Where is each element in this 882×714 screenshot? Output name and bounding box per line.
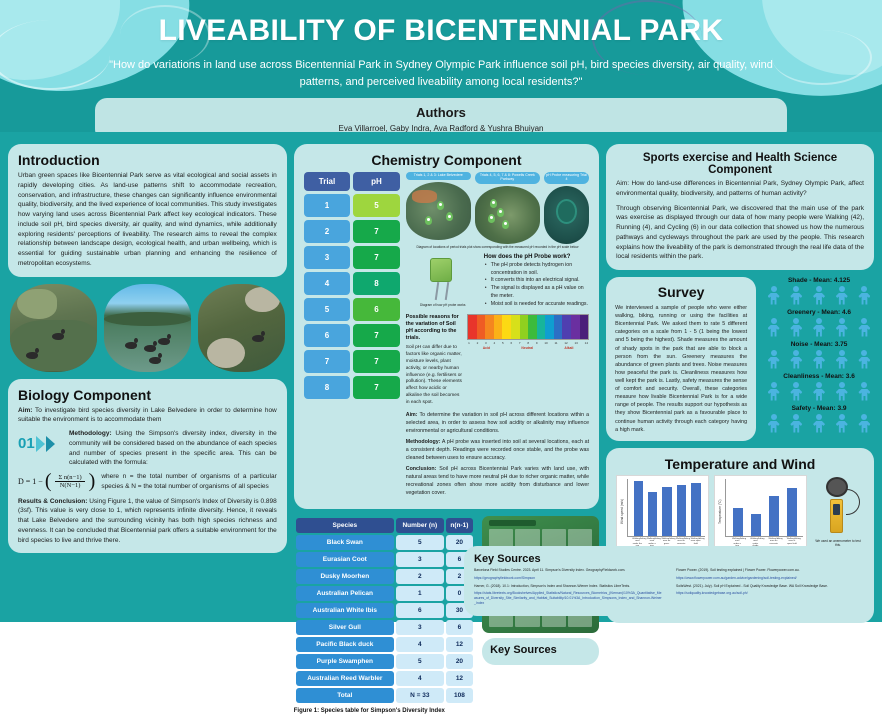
list-item: It converts this into an electrical sign…	[484, 277, 589, 285]
chemistry-aim-text: To determine the variation in soil pH ac…	[406, 412, 589, 434]
bar	[787, 488, 796, 536]
table-row: Purple Swamphen 5 20	[296, 654, 473, 669]
sources-column-left: Barcelona Field Studies Centre. 2023. Ap…	[474, 568, 662, 609]
survey-text: We interviewed a sample of people who we…	[615, 304, 747, 434]
person-icon	[835, 318, 848, 337]
trial-number: 6	[304, 324, 351, 347]
species-count: 2	[396, 569, 444, 584]
total-nn1: 108	[446, 688, 473, 703]
wind-chart-plot	[627, 479, 705, 537]
species-table: Species Number (n) n(n-1) Black Swan 5 2…	[294, 516, 475, 705]
person-icon	[790, 350, 803, 369]
species-nn1: 20	[446, 654, 473, 669]
photo-black-swans	[104, 284, 191, 372]
table-row: 6 7	[304, 324, 400, 347]
biology-aim: Aim: To investigate bird species diversi…	[18, 406, 277, 426]
chemistry-methodology: Methodology: A pH probe was inserted int…	[406, 439, 589, 463]
people-row	[764, 350, 874, 369]
source-entry: Flower Power. (2019). Soil testing expla…	[676, 568, 864, 573]
ph-value: 7	[353, 376, 400, 399]
survey-label-cleanliness: Cleanliness - Mean: 3.6	[764, 373, 874, 380]
person-icon	[790, 318, 803, 337]
table-row: 3 7	[304, 246, 400, 269]
map-note: Diagram of locations of period trials pl…	[406, 246, 589, 250]
total-count: N = 33	[396, 688, 444, 703]
table-row: Pacific Black duck 4 12	[296, 637, 473, 652]
ph-value: 8	[353, 272, 400, 295]
key-sources-band: Key Sources Barcelona Field Studies Cent…	[464, 546, 874, 616]
source-link[interactable]: https://www.flowerpower.com.au/garden-ad…	[676, 576, 864, 581]
person-icon	[858, 414, 871, 433]
formula-where-text: where n = the total number of organisms …	[101, 472, 276, 492]
person-icon	[813, 318, 826, 337]
ph-variation-body: Soil pH can differ due to factors like o…	[406, 345, 462, 408]
survey-label-safety: Safety - Mean: 3.9	[764, 405, 874, 412]
chemistry-right: Trials 1, 2 & 3: Lake Belvedere Trials 4…	[406, 172, 589, 501]
column-left: Introduction Urban green spaces like Bic…	[8, 144, 287, 622]
probe-explainer: How does the pH Probe work? The pH probe…	[484, 254, 589, 309]
chevron-right-icon	[36, 436, 45, 452]
person-icon	[767, 414, 780, 433]
person-icon	[858, 286, 871, 305]
map-caption: Trials 4, 5, 6, 7 & 8: Powells Creek Par…	[475, 172, 540, 184]
list-item: The signal is displayed as a pH value on…	[484, 285, 589, 301]
species-table-caption: Figure 1: Species table for Simpson's Di…	[294, 708, 475, 714]
ph-value: 6	[353, 298, 400, 321]
ph-variation-text: Possible reasons for the variation of So…	[406, 314, 462, 408]
survey-group-cleanliness: Cleanliness - Mean: 3.6	[764, 373, 874, 401]
ph-value: 7	[353, 324, 400, 347]
survey-group-safety: Safety - Mean: 3.9	[764, 405, 874, 433]
map-card-3: pH Probe measuring Trial 4	[544, 172, 589, 244]
biology-results: Results & Conclusion: Using Figure 1, th…	[18, 497, 277, 546]
species-name: Dusky Moorhen	[296, 569, 394, 584]
trial-column-header: Trial	[304, 172, 351, 191]
wind-chart-ylabel: Wind speed (m/s)	[620, 479, 627, 553]
ph-variation-block: Possible reasons for the variation of So…	[406, 314, 589, 408]
biology-aim-label: Aim:	[18, 407, 32, 414]
survey-pictograms: Shade - Mean: 4.125 Greenery - Mean: 4.6	[764, 277, 874, 441]
bar	[691, 483, 700, 536]
people-row	[764, 286, 874, 305]
bar	[648, 492, 657, 535]
survey-label-greenery: Greenery - Mean: 4.6	[764, 309, 874, 316]
biology-card: Biology Component Aim: To investigate bi…	[8, 379, 287, 554]
trial-number: 4	[304, 272, 351, 295]
biology-methodology-row: 01 Methodology: Using the Simpson's dive…	[18, 429, 277, 468]
formula-numerator: Σ n(n−1)	[55, 474, 84, 482]
species-name: Australian Pelican	[296, 586, 394, 601]
map-image-lake-belvedere	[406, 182, 471, 240]
person-icon	[813, 286, 826, 305]
table-row: 4 8	[304, 272, 400, 295]
species-name: Australian White Ibis	[296, 603, 394, 618]
trial-number: 5	[304, 298, 351, 321]
species-count: 5	[396, 654, 444, 669]
ph-value: 5	[353, 194, 400, 217]
sports-aim-text: How do land-use differences in Bicentenn…	[616, 180, 864, 197]
person-icon	[858, 318, 871, 337]
survey-label-shade: Shade - Mean: 4.125	[764, 277, 874, 284]
sports-text: Through observing Bicentennial Park, we …	[616, 204, 864, 263]
formula-prefix: D = 1 −	[18, 477, 43, 486]
anemometer-figure: We used an anemometer to test this.	[812, 475, 864, 548]
ph-scale-bands: Acid Neutral Alkali	[467, 346, 589, 350]
trial-table-header: Trial pH	[304, 172, 400, 191]
bar	[751, 514, 760, 536]
chemistry-conclusions: Aim: To determine the variation in soil …	[406, 412, 589, 500]
source-link[interactable]: https://soilquality.knowledgebase.org.au…	[676, 591, 864, 596]
species-name: Pacific Black duck	[296, 637, 394, 652]
biology-title: Biology Component	[18, 387, 277, 403]
temp-wind-charts: Wind speed (m/s) Walking/biking area und…	[616, 475, 864, 555]
species-nn1: 12	[446, 671, 473, 686]
table-row: 7 7	[304, 350, 400, 373]
table-row: 5 6	[304, 298, 400, 321]
probe-caption: Diagram of how pH probe works	[406, 304, 480, 308]
chemistry-conclusion-label: Conclusion:	[406, 466, 437, 472]
species-name: Purple Swamphen	[296, 654, 394, 669]
ph-scale-bar	[467, 314, 589, 340]
temp-chart-plot	[725, 479, 803, 537]
survey-group-greenery: Greenery - Mean: 4.6	[764, 309, 874, 337]
species-count: 5	[396, 535, 444, 550]
person-icon	[790, 382, 803, 401]
species-nn1: 12	[446, 637, 473, 652]
ph-variation-title: Possible reasons for the variation of So…	[406, 314, 462, 343]
people-row	[764, 414, 874, 433]
survey-label-noise: Noise - Mean: 3.75	[764, 341, 874, 348]
column-header-number: Number (n)	[396, 518, 444, 533]
person-icon	[813, 350, 826, 369]
table-row: Dusky Moorhen 2 2	[296, 569, 473, 584]
bar	[769, 496, 778, 536]
trial-number: 8	[304, 376, 351, 399]
survey-split: Survey We interviewed a sample of people…	[606, 277, 874, 441]
ph-scale-figure: 1234567 891011121314 Acid Neutral Alkali	[467, 314, 589, 408]
step-number-badge: 01	[18, 429, 64, 452]
chemistry-conclusion: Conclusion: Soil pH across Bicentennial …	[406, 466, 589, 498]
temp-chart-ylabel: Temperature (°C)	[718, 479, 725, 553]
key-sources-title: Key Sources	[490, 644, 591, 656]
ph-column-header: pH	[353, 172, 400, 191]
sports-title: Sports exercise and Health Science Compo…	[616, 152, 864, 176]
species-name: Australian Reed Warbler	[296, 671, 394, 686]
table-row: Eurasian Coot 3 6	[296, 552, 473, 567]
species-name: Eurasian Coot	[296, 552, 394, 567]
total-label: Total	[296, 688, 394, 703]
person-icon	[813, 414, 826, 433]
source-link[interactable]: https://stats.libretexts.org/Bookshelves…	[474, 591, 662, 606]
person-icon	[858, 382, 871, 401]
ph-value: 7	[353, 350, 400, 373]
key-sources-card: Key Sources	[482, 638, 599, 665]
list-item: The pH probe detects hydrogen ion concen…	[484, 262, 589, 278]
people-row	[764, 318, 874, 337]
survey-card: Survey We interviewed a sample of people…	[606, 277, 756, 441]
biology-methodology-label: Methodology:	[69, 430, 112, 437]
map-row: Trials 1, 2 & 3: Lake Belvedere Trials 4…	[406, 172, 589, 244]
sources-columns: Barcelona Field Studies Centre. 2023. Ap…	[474, 568, 864, 609]
bar	[677, 485, 686, 536]
table-row: 8 7	[304, 376, 400, 399]
probe-block: Diagram of how pH probe works How does t…	[406, 254, 589, 309]
column-header-species: Species	[296, 518, 394, 533]
bar	[634, 481, 643, 536]
table-row: Australian White Ibis 6 30	[296, 603, 473, 618]
survey-group-noise: Noise - Mean: 3.75	[764, 341, 874, 369]
map-card-1: Trials 1, 2 & 3: Lake Belvedere	[406, 172, 471, 244]
trial-number: 1	[304, 194, 351, 217]
authors-box: Authors Eva Villarroel, Gaby Indra, Ava …	[95, 98, 787, 132]
person-icon	[835, 382, 848, 401]
simpson-formula: D = 1 − ( Σ n(n−1) N(N−1) )	[18, 473, 95, 490]
intro-photo-row	[8, 284, 287, 372]
ph-band-acid: Acid	[483, 346, 490, 350]
chemistry-card: Chemistry Component Trial pH 1 5 2 7	[294, 144, 599, 509]
species-count: 1	[396, 586, 444, 601]
people-row	[764, 382, 874, 401]
page-title: LIVEABILITY OF BICENTENNIAL PARK	[0, 0, 882, 48]
chemistry-aim-label: Aim:	[406, 412, 418, 418]
species-count: 4	[396, 637, 444, 652]
chevron-right-icon	[46, 436, 55, 452]
trial-number: 2	[304, 220, 351, 243]
chemistry-aim: Aim: To determine the variation in soil …	[406, 412, 589, 436]
formula-paren-open: (	[45, 473, 52, 490]
person-icon	[767, 382, 780, 401]
introduction-title: Introduction	[18, 152, 277, 168]
map-image-powells-creek	[475, 186, 540, 244]
map-caption: Trials 1, 2 & 3: Lake Belvedere	[406, 172, 471, 180]
key-sources-band-title: Key Sources	[474, 553, 864, 565]
step-number: 01	[18, 435, 35, 452]
list-item: Moist soil is needed for accurate readin…	[484, 301, 589, 309]
sources-column-right: Flower Power. (2019). Soil testing expla…	[676, 568, 864, 609]
person-icon	[835, 350, 848, 369]
sports-card: Sports exercise and Health Science Compo…	[606, 144, 874, 270]
person-icon	[767, 350, 780, 369]
table-row: Australian Pelican 1 0	[296, 586, 473, 601]
bar	[662, 487, 671, 536]
person-icon	[813, 382, 826, 401]
trial-number: 3	[304, 246, 351, 269]
ph-value: 7	[353, 246, 400, 269]
map-caption: pH Probe measuring Trial 4	[544, 172, 589, 184]
species-count: 4	[396, 671, 444, 686]
simpson-formula-row: D = 1 − ( Σ n(n−1) N(N−1) ) where n = th…	[18, 472, 277, 492]
biology-methodology: Methodology: Using the Simpson's diversi…	[69, 429, 277, 468]
authors-list: Eva Villarroel, Gaby Indra, Ava Radford …	[105, 124, 777, 132]
anemometer-icon	[812, 475, 864, 539]
person-icon	[790, 414, 803, 433]
table-row: Australian Reed Warbler 4 12	[296, 671, 473, 686]
probe-question-title: How does the pH Probe work?	[484, 254, 589, 260]
biology-aim-text: To investigate bird species diversity in…	[18, 407, 277, 424]
species-count: 3	[396, 552, 444, 567]
table-row: 2 7	[304, 220, 400, 243]
table-row: 1 5	[304, 194, 400, 217]
wind-speed-bar-chart: Wind speed (m/s) Walking/biking area und…	[616, 475, 709, 555]
authors-heading: Authors	[105, 105, 777, 120]
chemistry-title: Chemistry Component	[304, 152, 589, 168]
column-header-nn1: n(n-1)	[446, 518, 473, 533]
photo-birds-shore	[10, 284, 97, 372]
trial-number: 7	[304, 350, 351, 373]
table-header-row: Species Number (n) n(n-1)	[296, 518, 473, 533]
ph-band-neutral: Neutral	[521, 346, 533, 350]
formula-paren-close: )	[89, 473, 96, 490]
formula-denominator: N(N−1)	[60, 482, 81, 489]
photo-ph-probe-measuring	[544, 186, 589, 244]
ph-band-alkali: Alkali	[564, 346, 573, 350]
person-icon	[858, 350, 871, 369]
chemistry-grid: Trial pH 1 5 2 7 3 7	[304, 172, 589, 501]
map-card-2: Trials 4, 5, 6, 7 & 8: Powells Creek Par…	[475, 172, 540, 244]
introduction-text: Urban green spaces like Bicentennial Par…	[18, 171, 277, 269]
trial-ph-table: Trial pH 1 5 2 7 3 7	[304, 172, 400, 501]
person-icon	[790, 286, 803, 305]
biology-results-label: Results & Conclusion:	[18, 498, 87, 505]
species-name: Black Swan	[296, 535, 394, 550]
introduction-card: Introduction Urban green spaces like Bic…	[8, 144, 287, 277]
source-entry: Barcelona Field Studies Centre. 2023. Ap…	[474, 568, 662, 573]
bar	[733, 508, 742, 535]
person-icon	[767, 318, 780, 337]
poster-header: LIVEABILITY OF BICENTENNIAL PARK "How do…	[0, 0, 882, 132]
temperature-bar-chart: Temperature (°C) Walking/biking area und…	[714, 475, 807, 555]
ph-value: 7	[353, 220, 400, 243]
source-link[interactable]: https://geographyfieldwork.com/Simpson	[474, 576, 662, 581]
survey-group-shade: Shade - Mean: 4.125	[764, 277, 874, 305]
chemistry-methodology-label: Methodology:	[406, 439, 441, 445]
person-icon	[835, 414, 848, 433]
table-total-row: Total N = 33 108	[296, 688, 473, 703]
source-entry: Harner, G. (2018). 10.1: Introduction, S…	[474, 584, 662, 589]
sports-aim: Aim: How do land-use differences in Bice…	[616, 179, 864, 199]
survey-title: Survey	[615, 284, 747, 300]
species-count: 6	[396, 603, 444, 618]
table-row: Black Swan 5 20	[296, 535, 473, 550]
species-table-wrap: Species Number (n) n(n-1) Black Swan 5 2…	[294, 516, 475, 714]
person-icon	[835, 286, 848, 305]
ph-scale-ticks: 1234567 891011121314	[467, 340, 589, 345]
sports-aim-label: Aim:	[616, 180, 629, 187]
source-entry: SoilsWest. (2021). July). Soil pH Explai…	[676, 584, 864, 589]
probe-points-list: The pH probe detects hydrogen ion concen…	[484, 262, 589, 309]
temp-wind-title: Temperature and Wind	[616, 456, 864, 472]
research-question: "How do variations in land use across Bi…	[0, 48, 882, 91]
ph-probe-diagram: Diagram of how pH probe works	[406, 254, 480, 306]
person-icon	[767, 286, 780, 305]
photo-rock-water	[198, 284, 285, 372]
